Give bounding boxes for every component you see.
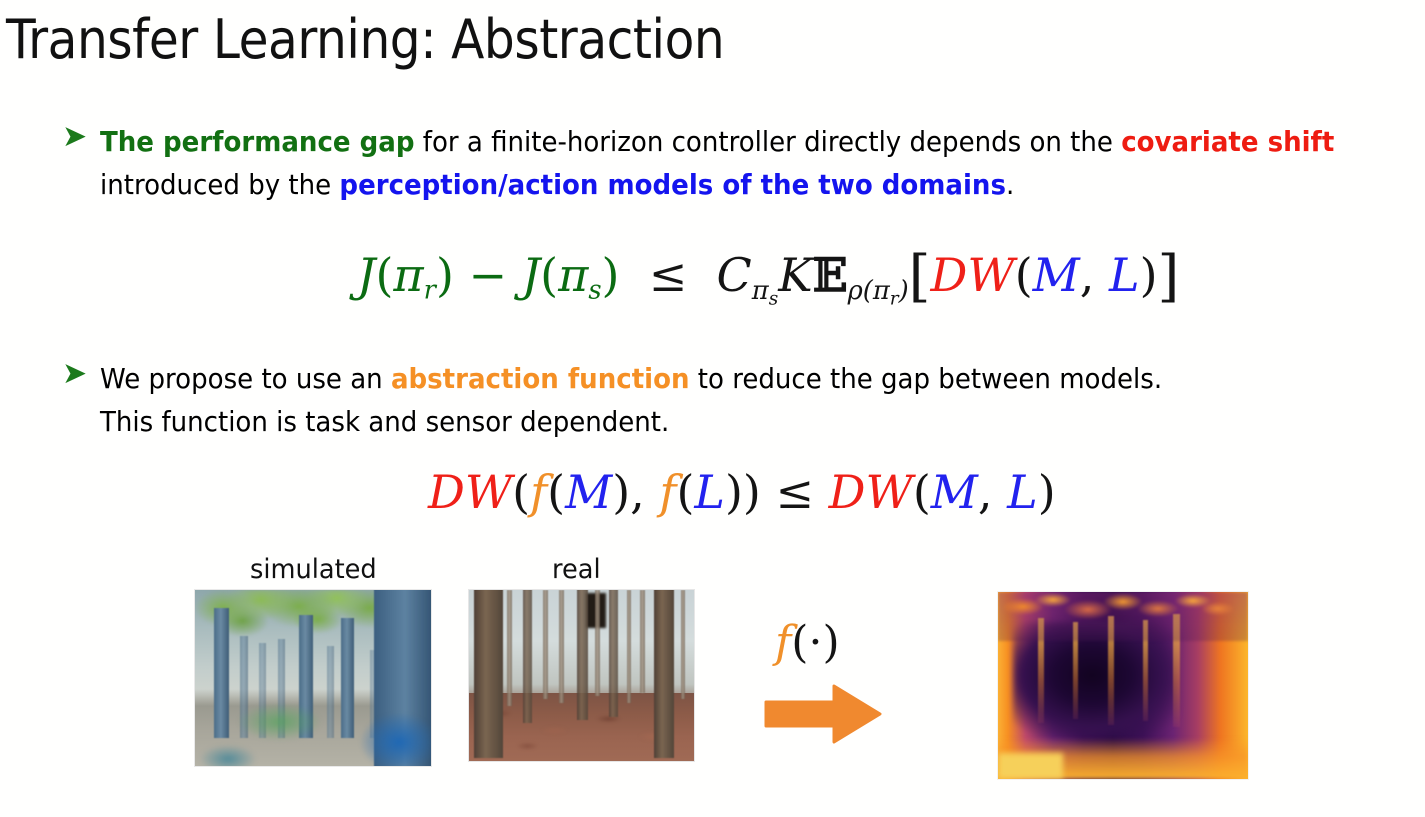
real-tree-trunk	[523, 589, 532, 723]
real-tree-trunk	[654, 589, 674, 758]
sim-tree-trunk	[327, 646, 334, 738]
real-thin-trunk	[559, 590, 564, 703]
bullet-arrow-icon: ➤	[62, 357, 100, 391]
bullet-2-line1-lead: We propose to use an	[100, 362, 391, 395]
bullet-1-line-1: The performance gap for a finite-horizon…	[100, 120, 1334, 163]
eq2-comma: ,	[630, 465, 659, 519]
caption-real: real	[552, 554, 601, 585]
eq2-leq-icon: ≤	[761, 465, 829, 519]
simulated-forest-image	[194, 589, 432, 767]
real-thin-trunk	[681, 590, 686, 699]
eq1-rbracket: ]	[1158, 244, 1180, 309]
caption-simulated: simulated	[250, 554, 377, 585]
eq1-rparen: )	[1140, 248, 1158, 302]
f-operator-lparen: (	[791, 617, 808, 668]
eq1-leq-icon: ≤	[634, 248, 702, 302]
sim-tree-trunk	[214, 608, 229, 738]
bullet-1-emphasis-covariate-shift: covariate shift	[1121, 125, 1334, 158]
f-operator-dot: ·	[808, 617, 822, 668]
bullet-2-line1-tail: to reduce the gap between models.	[690, 362, 1163, 395]
eq2-rhs-comma: ,	[978, 465, 1007, 519]
sim-grass-patch	[237, 703, 322, 742]
sim-blue-highlight	[360, 713, 431, 766]
eq1-lparen: (	[1015, 248, 1033, 302]
eq1-model-m: M	[1033, 248, 1080, 302]
f-operator-rparen: )	[822, 617, 839, 668]
bullet-2-line-2: This function is task and sensor depende…	[100, 400, 1162, 443]
equation-abstraction-contraction: DW(f(M), f(L)) ≤ DW(M, L)	[428, 465, 1056, 519]
eq1-comma: ,	[1080, 248, 1109, 302]
real-tree-trunk	[609, 589, 618, 717]
page-title: Transfer Learning: Abstraction	[6, 8, 724, 71]
eq1-lbracket: [	[909, 244, 931, 309]
bullet-item-1: ➤ The performance gap for a finite-horiz…	[62, 120, 1425, 206]
real-tree-trunk	[577, 589, 588, 720]
eq2-f-l: f	[659, 465, 676, 519]
sim-rock	[200, 745, 257, 767]
eq2-lparen-l: (	[676, 465, 694, 519]
slide-canvas: Transfer Learning: Abstraction ➤ The per…	[0, 0, 1425, 817]
bullet-2-emphasis-abstraction-function: abstraction function	[391, 362, 690, 395]
bullet-1-line1-mid: for a finite-horizon controller directly…	[414, 125, 1121, 158]
equation-performance-gap-bound: J(πr) − J(πs) ≤ CπsK𝔼ρ(πr)[DW(M, L)]	[357, 240, 1179, 309]
eq2-model-l: L	[694, 465, 725, 519]
real-thin-trunk	[640, 590, 645, 693]
right-arrow-icon	[764, 684, 884, 744]
bullet-arrow-icon: ➤	[62, 120, 100, 154]
bullet-1-emphasis-perception-action-models: perception/action models of the two doma…	[339, 168, 1006, 201]
bullet-1-line-2: introduced by the perception/action mode…	[100, 163, 1334, 206]
real-thin-trunk	[627, 590, 632, 703]
bullet-1-line2-lead: introduced by the	[100, 168, 339, 201]
bullet-item-2: ➤ We propose to use an abstraction funct…	[62, 357, 1242, 443]
bullet-2-text: We propose to use an abstraction functio…	[100, 357, 1242, 443]
eq2-rparen-outer: )	[743, 465, 761, 519]
abstraction-function-operator: f(·)	[775, 617, 840, 668]
real-tree-trunk	[474, 589, 503, 758]
bullet-1-text: The performance gap for a finite-horizon…	[100, 120, 1425, 206]
depth-map-image	[997, 591, 1249, 780]
transform-arrow	[764, 684, 884, 744]
real-thin-trunk	[507, 590, 512, 706]
depth-bottom-left-highlight	[998, 753, 1063, 779]
depth-canopy-region	[998, 592, 1248, 641]
eq2-rhs-model-l: L	[1007, 465, 1038, 519]
f-operator-symbol: f	[775, 617, 791, 668]
eq1-dw: DW	[931, 248, 1015, 302]
eq2-rparen-m: )	[612, 465, 630, 519]
bullet-1-emphasis-performance-gap: The performance gap	[100, 125, 414, 158]
real-thin-trunk	[543, 590, 548, 699]
real-thin-trunk	[595, 590, 600, 696]
eq1-model-l: L	[1109, 248, 1140, 302]
eq1-lhs: J(πr) − J(πs)	[357, 248, 620, 302]
eq1-rhs-constant: CπsK𝔼ρ(πr)	[717, 248, 909, 302]
eq2-rhs-model-m: M	[931, 465, 978, 519]
bullet-2-line-1: We propose to use an abstraction functio…	[100, 357, 1162, 400]
eq2-f-m: f	[530, 465, 547, 519]
real-forest-image	[468, 589, 695, 762]
eq2-lparen-outer: (	[512, 465, 530, 519]
eq2-dw-left: DW	[428, 465, 512, 519]
eq2-rhs-rparen: )	[1038, 465, 1056, 519]
eq2-rparen-l: )	[725, 465, 743, 519]
eq2-model-m: M	[565, 465, 612, 519]
sim-tree-trunk	[341, 618, 354, 738]
eq2-lparen-m: (	[547, 465, 565, 519]
eq2-dw-right: DW	[829, 465, 913, 519]
bullet-1-line2-period: .	[1006, 168, 1014, 201]
eq2-rhs-lparen: (	[913, 465, 931, 519]
